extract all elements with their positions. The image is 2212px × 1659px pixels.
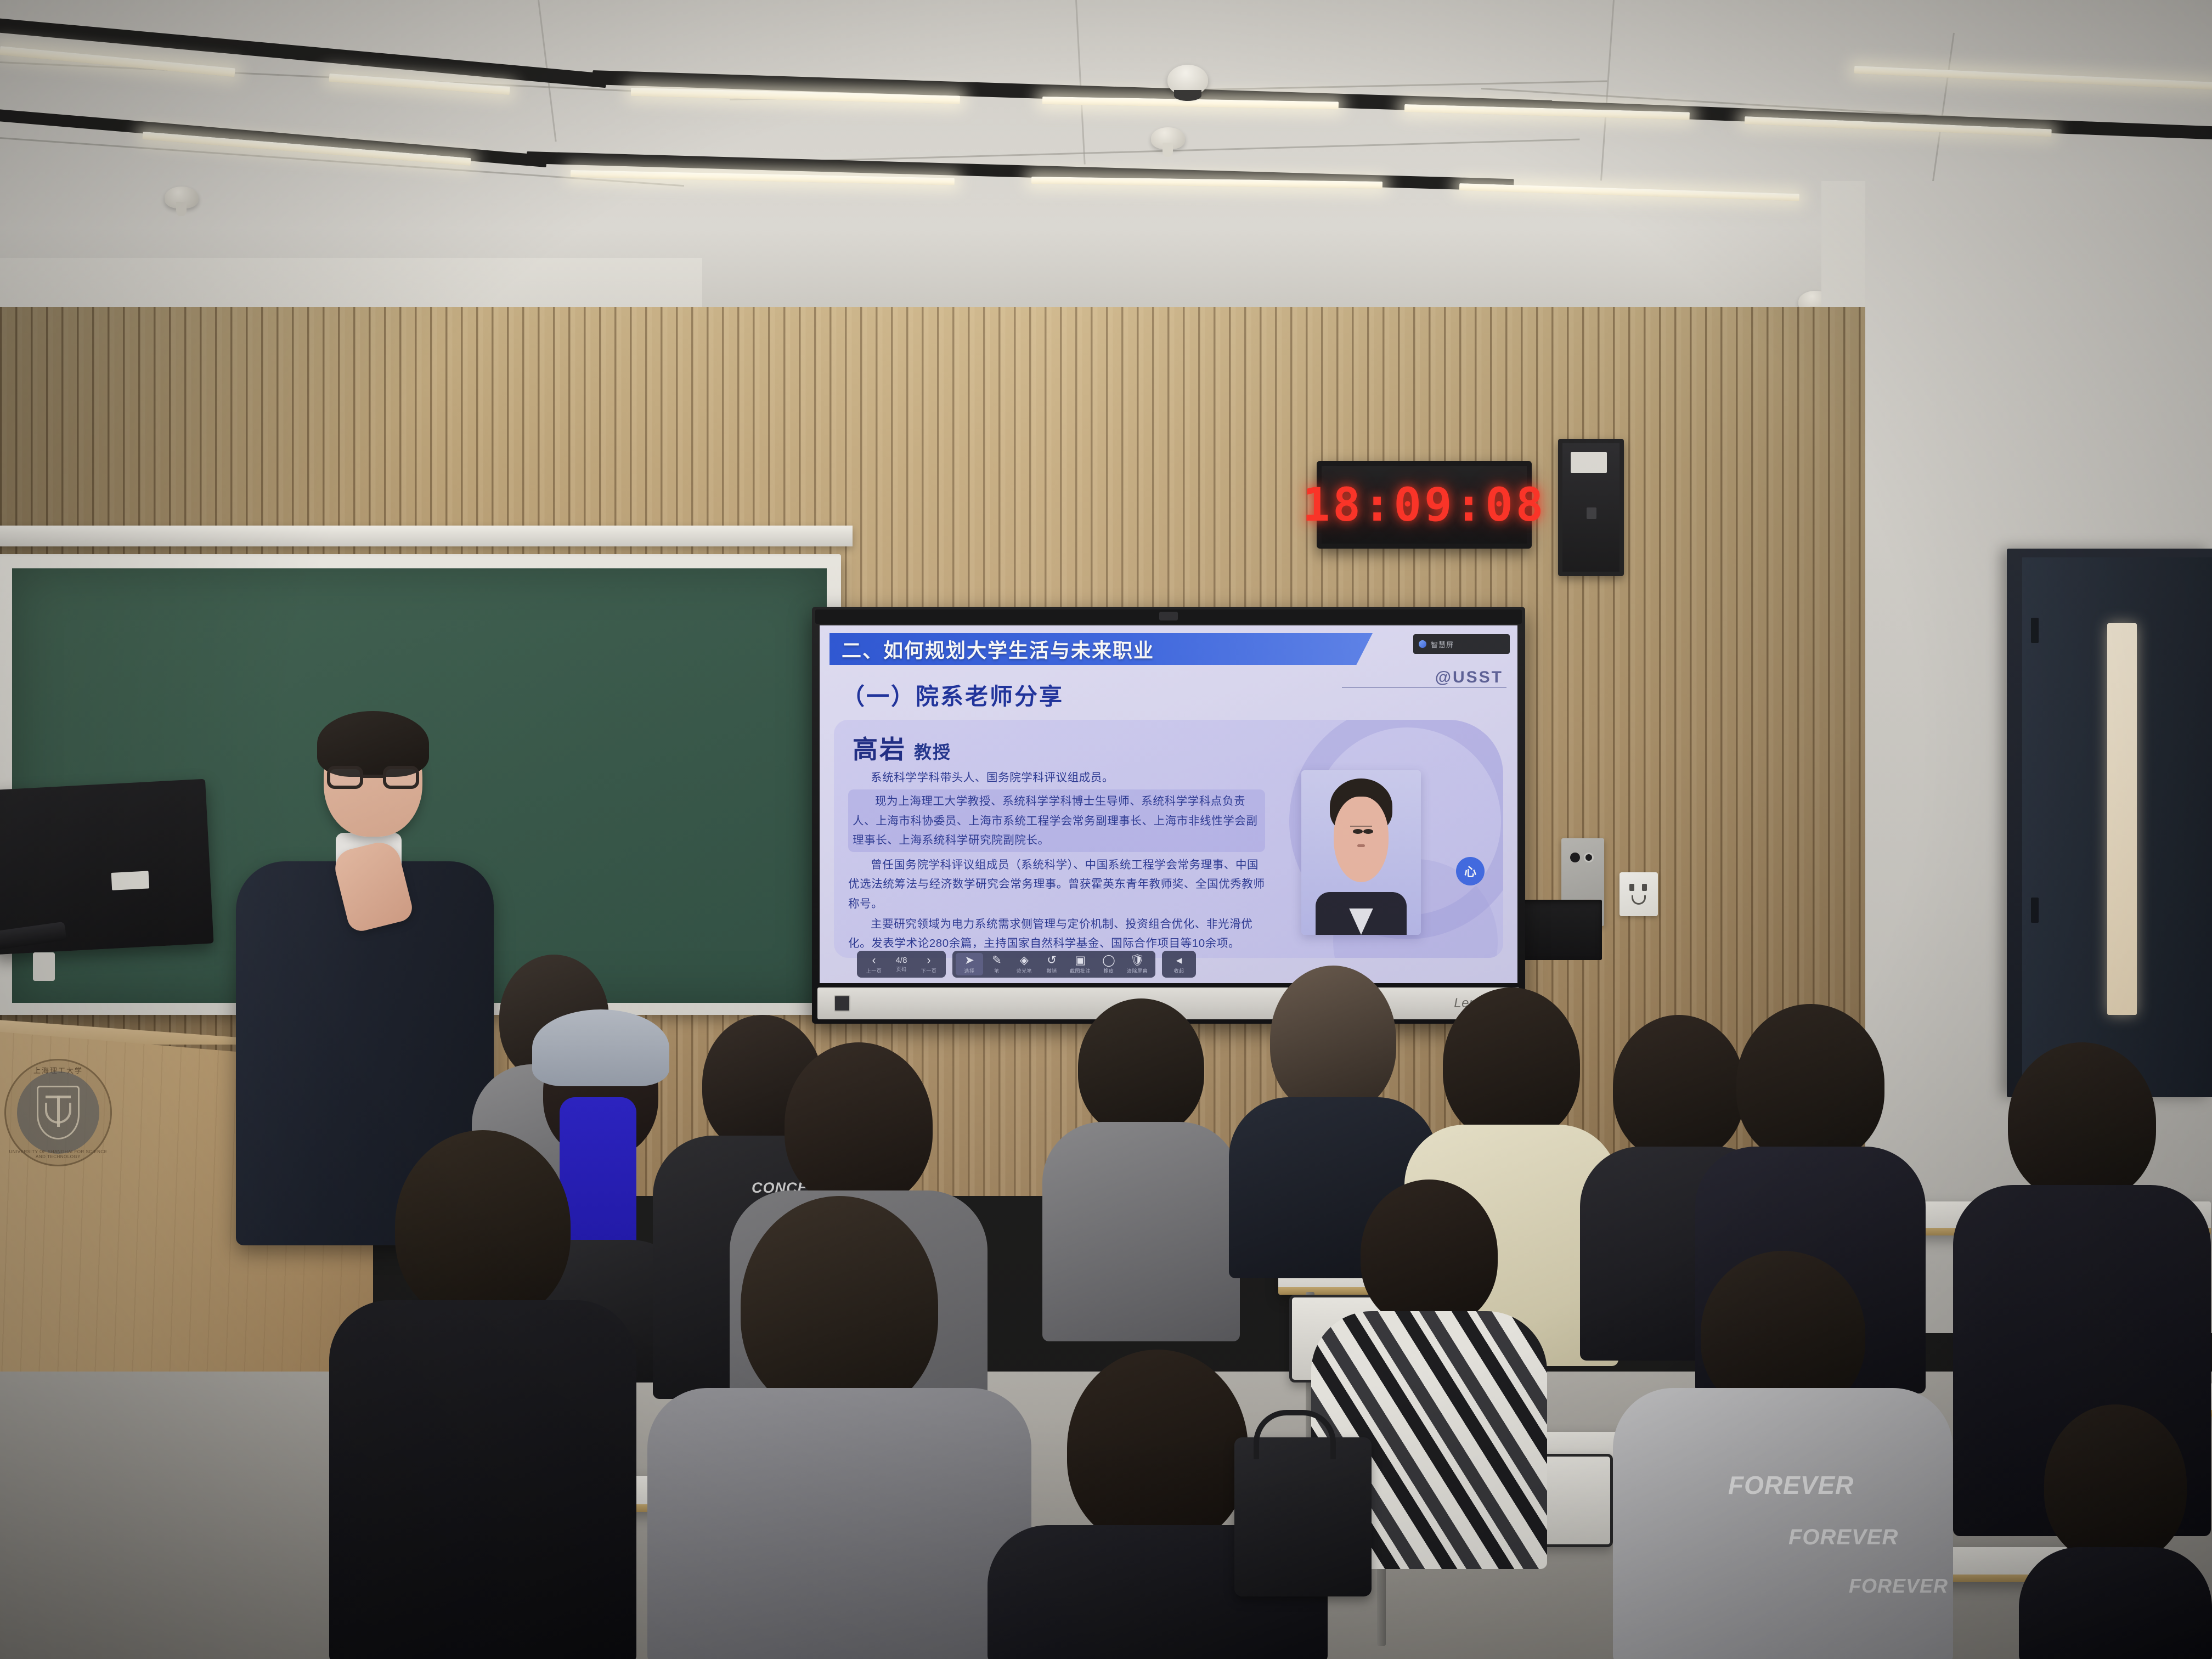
page-indicator-label: 页码 bbox=[896, 966, 906, 973]
professor-rank: 教授 bbox=[914, 738, 951, 764]
next-page-label: 下一页 bbox=[921, 967, 937, 974]
chevron-left-icon: ‹ bbox=[872, 955, 876, 966]
head bbox=[1270, 966, 1396, 1114]
monitor-clamp bbox=[33, 952, 55, 981]
highlighter-tool-label: 荧光笔 bbox=[1017, 967, 1032, 974]
undo-tool[interactable]: ↺ 撤销 bbox=[1038, 953, 1065, 975]
clear-screen-tool[interactable]: 🛡 清除屏幕 bbox=[1122, 953, 1152, 975]
head bbox=[2008, 1042, 2156, 1201]
professor-portrait bbox=[1301, 770, 1421, 935]
whiteboard-power-button[interactable] bbox=[834, 995, 850, 1012]
slide-app-badge[interactable]: 智慧屏 bbox=[1413, 634, 1510, 654]
led-wall-clock: 18:09:08 bbox=[1317, 461, 1532, 549]
backpack-strap bbox=[1254, 1410, 1336, 1459]
professor-bio: 系统科学学科带头人、国务院学科评议组成员。 现为上海理工大学教授、系统科学学科博… bbox=[848, 768, 1265, 954]
ceiling-light-strip bbox=[1459, 183, 1799, 201]
panel-port-a bbox=[1570, 853, 1580, 862]
shield-icon: 🛡 bbox=[1130, 955, 1145, 966]
jacket-brand-label: FOREVER bbox=[1849, 1575, 1948, 1598]
head bbox=[741, 1196, 938, 1415]
presentation-slide: 二、如何规划大学生活与未来职业 智慧屏 @USST （一）院系老师分享 高岩 教… bbox=[820, 625, 1517, 983]
door-light-panel bbox=[2107, 623, 2137, 1015]
jacket-brand-label: FOREVER bbox=[1788, 1525, 1898, 1550]
head bbox=[1078, 998, 1204, 1136]
power-outlet[interactable] bbox=[1620, 872, 1658, 916]
page-number: 4/8 bbox=[896, 956, 907, 964]
clock-time: 18:09:08 bbox=[1302, 478, 1547, 532]
head bbox=[1361, 1180, 1498, 1328]
eraser-tool-label: 橡皮 bbox=[1104, 967, 1114, 974]
highlighter-icon: ◈ bbox=[1020, 955, 1029, 966]
whiteboard-camera-icon bbox=[1159, 612, 1178, 620]
page-indicator: 4/8 页码 bbox=[888, 953, 915, 975]
entry-door[interactable] bbox=[2007, 549, 2212, 1097]
head bbox=[785, 1042, 933, 1207]
cursor-icon: ➤ bbox=[964, 955, 974, 966]
slide-title-bar: 二、如何规划大学生活与未来职业 bbox=[830, 633, 1373, 665]
collapse-label: 收起 bbox=[1174, 967, 1184, 974]
head bbox=[395, 1130, 571, 1322]
audience-member-forever-jacket: FOREVER FOREVER FOREVER bbox=[1613, 1251, 1953, 1659]
pen-tool-label: 笔 bbox=[994, 967, 1000, 974]
audience-member bbox=[329, 1130, 636, 1659]
page-nav-group[interactable]: ‹ 上一页 4/8 页码 › 下一页 bbox=[857, 951, 946, 978]
screenshot-icon: ▣ bbox=[1075, 955, 1086, 966]
app-badge-label: 智慧屏 bbox=[1431, 639, 1454, 650]
fire-sprinkler-icon bbox=[165, 187, 199, 208]
next-page-button[interactable]: › 下一页 bbox=[915, 953, 943, 975]
head bbox=[2044, 1404, 2187, 1564]
screenshot-tool[interactable]: ▣ 截图批注 bbox=[1065, 953, 1095, 975]
pen-icon: ✎ bbox=[992, 955, 1002, 966]
prev-page-button[interactable]: ‹ 上一页 bbox=[860, 953, 888, 975]
head bbox=[1443, 988, 1580, 1141]
panel-port-b bbox=[1584, 853, 1594, 862]
professor-name-row: 高岩 教授 bbox=[853, 730, 951, 766]
audience-member bbox=[647, 1196, 1031, 1659]
whiteboard-screen[interactable]: 二、如何规划大学生活与未来职业 智慧屏 @USST （一）院系老师分享 高岩 教… bbox=[820, 625, 1517, 983]
professor-card: 高岩 教授 系统科学学科带头人、国务院学科评议组成员。 现为上海理工大学教授、系… bbox=[834, 720, 1503, 958]
slide-subtitle: （一）院系老师分享 bbox=[842, 678, 1064, 712]
backpack bbox=[1234, 1437, 1372, 1596]
shoulders bbox=[647, 1388, 1031, 1659]
shoulders bbox=[329, 1300, 636, 1659]
eraser-tool[interactable]: ◯ 橡皮 bbox=[1095, 953, 1122, 975]
watermark-rule bbox=[1342, 687, 1506, 688]
card-logo-icon: 心 bbox=[1456, 857, 1485, 885]
chevron-right-icon: › bbox=[927, 955, 931, 966]
bio-line: 系统科学学科带头人、国务院学科评议组成员。 bbox=[848, 768, 1265, 787]
shoulders bbox=[1042, 1122, 1240, 1341]
app-badge-icon bbox=[1419, 640, 1426, 648]
clear-screen-label: 清除屏幕 bbox=[1127, 967, 1148, 974]
baseball-cap bbox=[532, 1009, 669, 1086]
wall-vent bbox=[1514, 900, 1602, 960]
lecture-hall-photo: 18:09:08 二、如何规划大学生活与未来职业 bbox=[0, 0, 2212, 1659]
pen-tool[interactable]: ✎ 笔 bbox=[983, 953, 1011, 975]
bio-line: 曾任国务院学科评议组成员（系统科学）、中国系统工程学会常务理事、中国优选法统筹法… bbox=[848, 855, 1265, 913]
audience-member bbox=[2019, 1404, 2212, 1659]
presenter-glasses-icon bbox=[327, 766, 419, 790]
professor-name: 高岩 bbox=[853, 730, 906, 766]
wall-speaker bbox=[1558, 439, 1624, 576]
slide-title: 二、如何规划大学生活与未来职业 bbox=[842, 635, 1154, 663]
head bbox=[1067, 1350, 1248, 1547]
university-seal: 上海理工大学 UNIVERSITY OF SHANGHAI FOR SCIENC… bbox=[4, 1059, 112, 1166]
undo-tool-label: 撤销 bbox=[1046, 967, 1057, 974]
eraser-icon: ◯ bbox=[1102, 955, 1115, 966]
undo-icon: ↺ bbox=[1047, 955, 1057, 966]
screenshot-tool-label: 截图批注 bbox=[1070, 967, 1091, 974]
prev-page-label: 上一页 bbox=[866, 967, 882, 974]
smart-whiteboard[interactable]: 二、如何规划大学生活与未来职业 智慧屏 @USST （一）院系老师分享 高岩 教… bbox=[812, 607, 1525, 1024]
ceiling-light-strip bbox=[1854, 66, 2212, 90]
chalk-tray bbox=[0, 526, 853, 546]
collapse-toolbar-button[interactable]: ◂ 收起 bbox=[1165, 953, 1193, 975]
bio-line-highlighted: 现为上海理工大学教授、系统科学学科博士生导师、系统科学学科点负责人、上海市科协委… bbox=[848, 789, 1265, 852]
highlighter-tool[interactable]: ◈ 荧光笔 bbox=[1011, 953, 1038, 975]
fire-sprinkler-icon bbox=[1151, 127, 1185, 149]
shoulders bbox=[1613, 1388, 1953, 1659]
usst-watermark: @USST bbox=[1435, 668, 1503, 687]
shoulders bbox=[2019, 1547, 2212, 1659]
whiteboard-toolbar[interactable]: ‹ 上一页 4/8 页码 › 下一页 bbox=[857, 951, 1196, 978]
audience-member bbox=[1042, 998, 1240, 1339]
seal-bottom-text: UNIVERSITY OF SHANGHAI FOR SCIENCE AND T… bbox=[6, 1149, 110, 1159]
monitor-label bbox=[111, 871, 150, 890]
chevron-collapse-icon: ◂ bbox=[1176, 955, 1182, 966]
head bbox=[1736, 1004, 1884, 1163]
tools-group[interactable]: ➤ 选择 ✎ 笔 ◈ 荧光笔 ↺ 撤销 bbox=[952, 951, 1155, 978]
collapse-group[interactable]: ◂ 收起 bbox=[1162, 951, 1196, 978]
jacket-brand-label: FOREVER bbox=[1728, 1470, 1854, 1500]
bio-line: 主要研究领域为电力系统需求侧管理与定价机制、投资组合优化、非光滑优化。发表学术论… bbox=[848, 915, 1265, 953]
shield-icon bbox=[37, 1086, 80, 1139]
smoke-detector-icon bbox=[1167, 65, 1208, 95]
cursor-tool-label: 选择 bbox=[964, 967, 974, 974]
cursor-tool[interactable]: ➤ 选择 bbox=[956, 953, 983, 975]
